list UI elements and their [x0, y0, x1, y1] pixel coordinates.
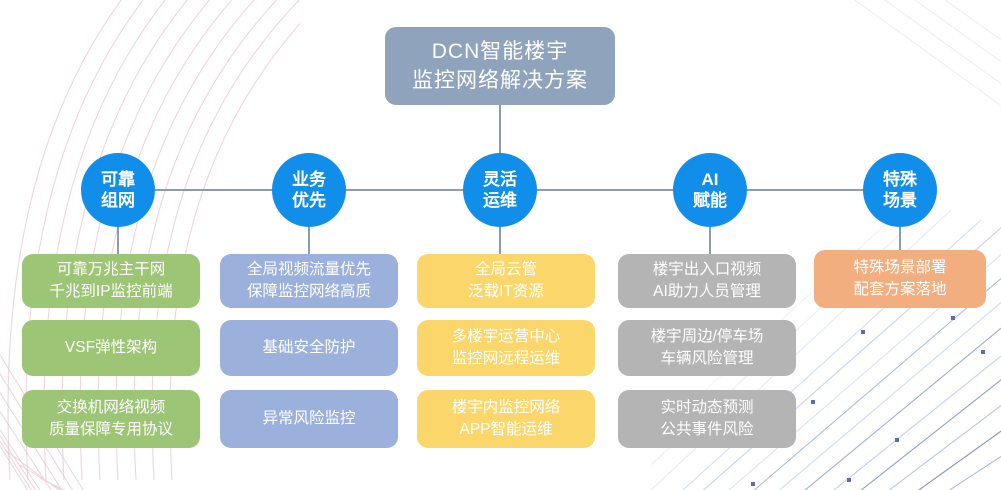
- branch-circle-4-line-2: 赋能: [693, 190, 727, 211]
- card-4-2-line-2: 车辆风险管理: [660, 348, 753, 370]
- card-3-1-line-1: 全局云管: [475, 259, 537, 281]
- card-5-1-line-2: 配套方案落地: [853, 279, 946, 301]
- card-3-2-line-1: 多楼宇运营中心: [452, 326, 561, 348]
- diagram-title: DCN智能楼宇 监控网络解决方案: [385, 27, 615, 105]
- card-3-3[interactable]: 楼宇内监控网络 APP智能运维: [417, 390, 595, 448]
- card-3-3-line-2: APP智能运维: [459, 419, 552, 441]
- card-1-3-line-2: 质量保障专用协议: [49, 419, 173, 441]
- card-2-2-line-1: 基础安全防护: [262, 337, 355, 359]
- card-3-1-line-2: 泛载IT资源: [468, 281, 544, 303]
- branch-circle-3[interactable]: 灵活 运维: [463, 153, 537, 227]
- card-4-2-line-1: 楼宇周边/停车场: [651, 326, 764, 348]
- branch-circle-1-line-2: 组网: [101, 190, 135, 211]
- card-4-1[interactable]: 楼宇出入口视频 AI助力人员管理: [618, 254, 796, 308]
- branch-circle-3-line-2: 运维: [483, 190, 517, 211]
- branch-circle-2-line-2: 优先: [292, 190, 326, 211]
- card-2-3[interactable]: 异常风险监控: [220, 390, 398, 448]
- card-4-1-line-1: 楼宇出入口视频: [653, 259, 762, 281]
- card-2-1[interactable]: 全局视频流量优先 保障监控网络高质: [220, 254, 398, 308]
- branch-circle-2-line-1: 业务: [292, 169, 326, 190]
- card-1-2[interactable]: VSF弹性架构: [22, 320, 200, 376]
- title-line-2: 监控网络解决方案: [412, 66, 588, 95]
- card-2-1-line-1: 全局视频流量优先: [247, 259, 371, 281]
- card-4-3[interactable]: 实时动态预测 公共事件风险: [618, 390, 796, 448]
- card-1-3[interactable]: 交换机网络视频 质量保障专用协议: [22, 390, 200, 448]
- card-3-2[interactable]: 多楼宇运营中心 监控网远程运维: [417, 320, 595, 376]
- card-2-2[interactable]: 基础安全防护: [220, 320, 398, 376]
- branch-circle-1-line-1: 可靠: [101, 169, 135, 190]
- card-1-1[interactable]: 可靠万兆主干网 千兆到IP监控前端: [22, 254, 200, 308]
- branch-circle-4[interactable]: AI 赋能: [673, 153, 747, 227]
- branch-circle-5[interactable]: 特殊 场景: [863, 153, 937, 227]
- title-line-1: DCN智能楼宇: [432, 37, 569, 66]
- card-1-1-line-1: 可靠万兆主干网: [57, 259, 166, 281]
- card-4-2[interactable]: 楼宇周边/停车场 车辆风险管理: [618, 320, 796, 376]
- branch-circle-4-line-1: AI: [702, 169, 719, 190]
- card-3-2-line-2: 监控网远程运维: [452, 348, 561, 370]
- branch-circle-5-line-2: 场景: [883, 190, 917, 211]
- card-2-3-line-1: 异常风险监控: [262, 408, 355, 430]
- card-3-1[interactable]: 全局云管 泛载IT资源: [417, 254, 595, 308]
- card-1-2-line-1: VSF弹性架构: [65, 337, 157, 359]
- card-4-1-line-2: AI助力人员管理: [653, 281, 761, 303]
- branch-circle-3-line-1: 灵活: [483, 169, 517, 190]
- diagram-canvas: DCN智能楼宇 监控网络解决方案 可靠 组网 可靠万兆主干网 千兆到IP监控前端…: [0, 0, 1001, 490]
- connector-stem-5: [899, 227, 901, 251]
- card-5-1[interactable]: 特殊场景部署 配套方案落地: [814, 250, 986, 308]
- card-5-1-line-1: 特殊场景部署: [853, 257, 946, 279]
- card-4-3-line-2: 公共事件风险: [660, 419, 753, 441]
- card-4-3-line-1: 实时动态预测: [660, 397, 753, 419]
- branch-circle-2[interactable]: 业务 优先: [272, 153, 346, 227]
- branch-circle-5-line-1: 特殊: [883, 169, 917, 190]
- card-3-3-line-1: 楼宇内监控网络: [452, 397, 561, 419]
- card-1-3-line-1: 交换机网络视频: [57, 397, 166, 419]
- card-2-1-line-2: 保障监控网络高质: [247, 281, 371, 303]
- branch-circle-1[interactable]: 可靠 组网: [81, 153, 155, 227]
- card-1-1-line-2: 千兆到IP监控前端: [49, 281, 172, 303]
